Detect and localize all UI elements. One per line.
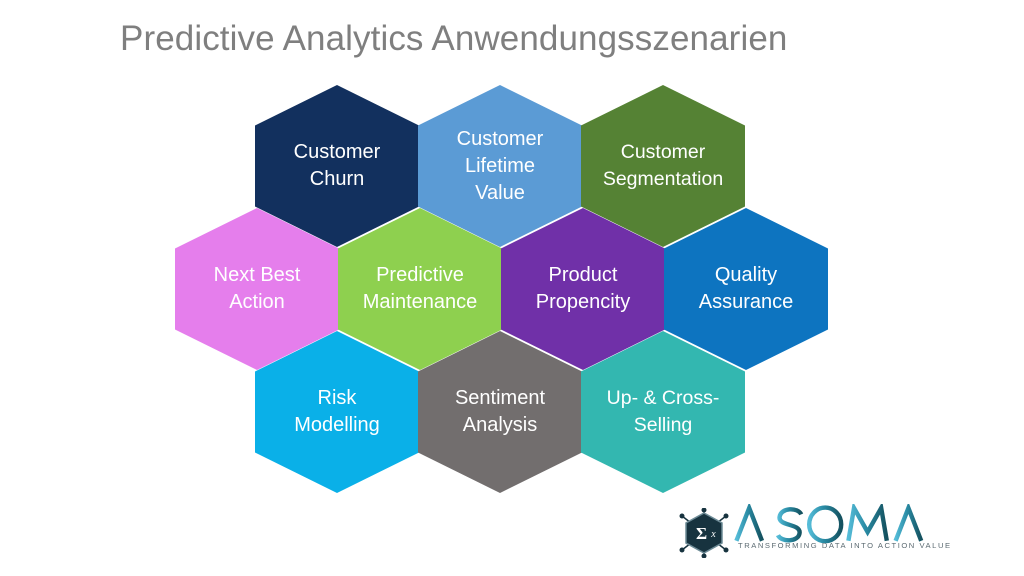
- hexagon-label: Predictive Maintenance: [348, 262, 492, 316]
- aisoma-logo-mark-icon: Σ x: [678, 508, 730, 558]
- hexagon-diagram: Customer ChurnCustomer Lifetime ValueCus…: [0, 0, 1024, 576]
- svg-text:Σ: Σ: [696, 524, 707, 543]
- hexagon-label: Customer Lifetime Value: [428, 126, 572, 207]
- svg-text:x: x: [710, 529, 716, 540]
- hexagon-label: Up- & Cross- Selling: [591, 385, 735, 439]
- hexagon-label: Product Propencity: [511, 262, 655, 316]
- aisoma-logo: Σ x: [678, 500, 926, 562]
- hexagon-label: Customer Churn: [265, 139, 409, 193]
- hexagon-label: Risk Modelling: [265, 385, 409, 439]
- aisoma-logo-tagline: TRANSFORMING DATA INTO ACTION VALUE: [738, 541, 928, 550]
- hexagon-label: Quality Assurance: [674, 262, 818, 316]
- hexagon-label: Next Best Action: [185, 262, 329, 316]
- slide-canvas: Predictive Analytics Anwendungsszenarien…: [0, 0, 1024, 576]
- aisoma-wordmark: [734, 504, 926, 544]
- hexagon-label: Sentiment Analysis: [428, 385, 572, 439]
- hexagon-label: Customer Segmentation: [591, 139, 735, 193]
